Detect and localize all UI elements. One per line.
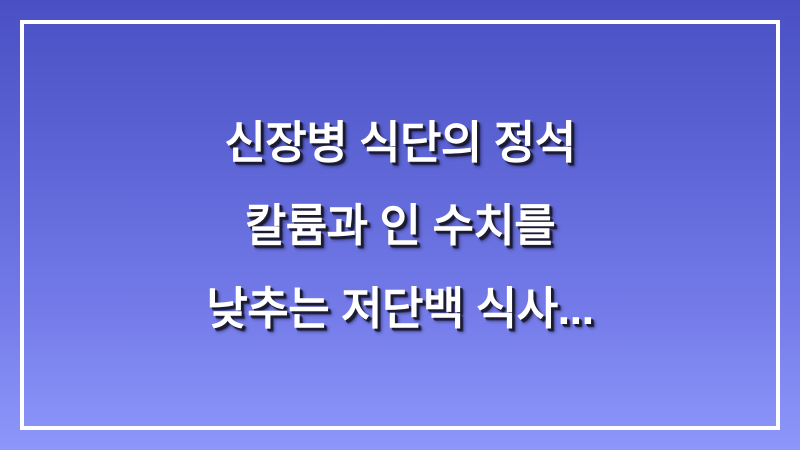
headline-line-3: 낮추는 저단백 식사...: [52, 267, 748, 350]
headline-line-2: 칼륨과 인 수치를: [52, 184, 748, 267]
headline-line-1: 신장병 식단의 정석: [52, 101, 748, 184]
thumbnail-card: 신장병 식단의 정석 칼륨과 인 수치를 낮추는 저단백 식사...: [0, 0, 800, 450]
headline-block: 신장병 식단의 정석 칼륨과 인 수치를 낮추는 저단백 식사...: [0, 0, 800, 450]
